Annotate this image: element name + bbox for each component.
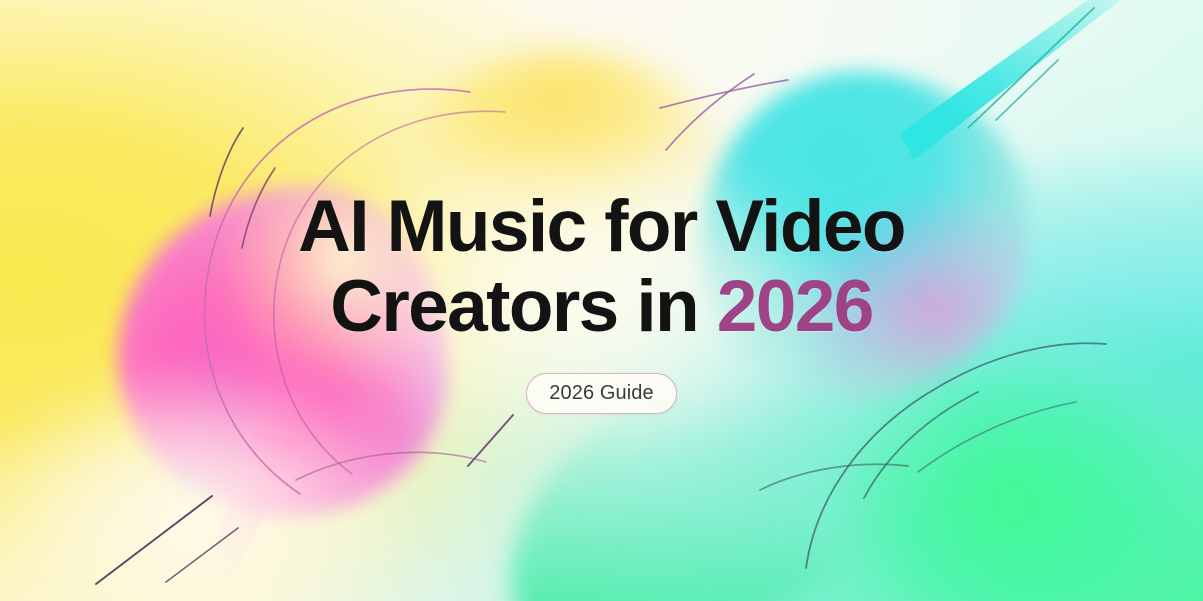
hero-banner: AI Music for Video Creators in 2026 2026… xyxy=(0,0,1203,601)
page-title: AI Music for Video Creators in 2026 xyxy=(298,187,905,346)
title-line-2-prefix: Creators in xyxy=(330,266,716,347)
title-line-1: AI Music for Video xyxy=(298,186,905,267)
status-badge[interactable]: 2026 Guide xyxy=(526,373,676,414)
hero-content: AI Music for Video Creators in 2026 2026… xyxy=(0,0,1203,601)
title-year: 2026 xyxy=(717,266,873,347)
